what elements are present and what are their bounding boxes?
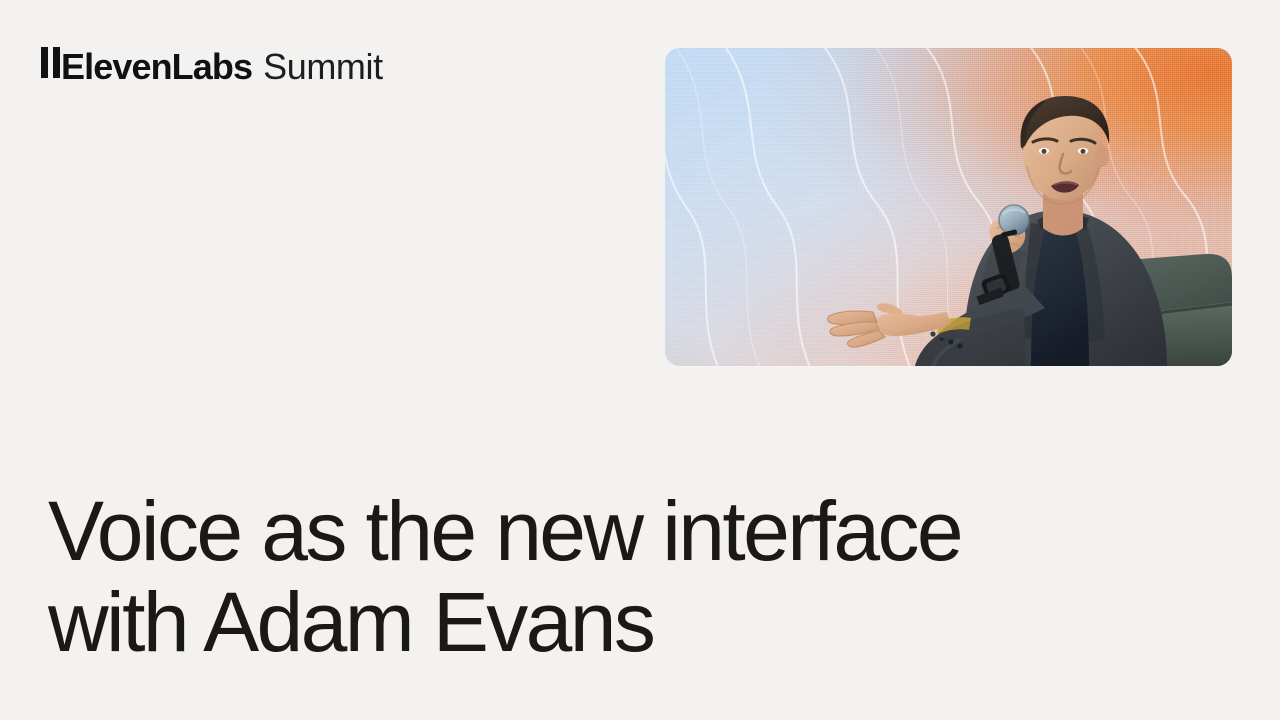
talk-title-line-1: Voice as the new interface <box>48 486 1188 577</box>
wordmark: ElevenLabs Summit <box>41 48 383 85</box>
talk-title-line-2: with Adam Evans <box>48 577 1188 668</box>
elevenlabs-bars-icon <box>41 47 60 78</box>
brand-event-name: Summit <box>263 49 383 85</box>
talk-title: Voice as the new interface with Adam Eva… <box>48 486 1188 668</box>
brand-lockup[interactable]: ElevenLabs Summit <box>41 44 383 88</box>
photo-vignette <box>665 48 1232 366</box>
speaker-photo <box>665 48 1232 366</box>
brand-name: ElevenLabs <box>61 49 252 85</box>
